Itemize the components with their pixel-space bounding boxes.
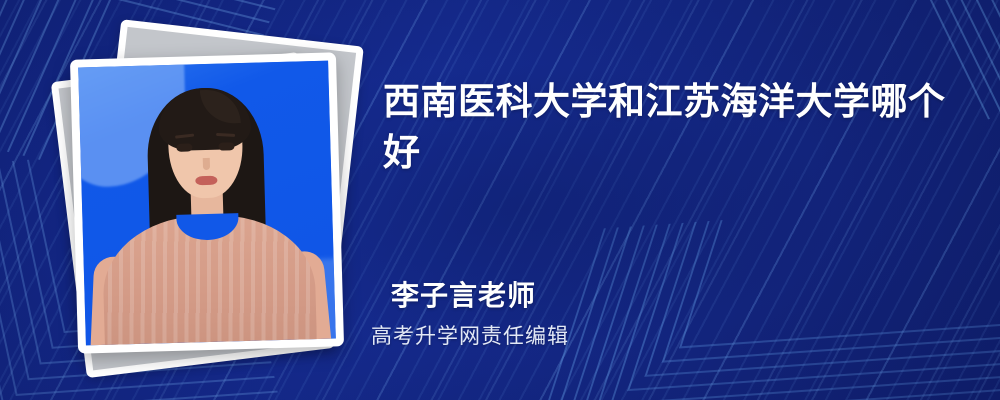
portrait-figure: [78, 61, 336, 346]
article-headline: 西南医科大学和江苏海洋大学哪个好: [383, 76, 963, 178]
banner-text-column: 西南医科大学和江苏海洋大学哪个好 李子言老师 高考升学网责任编辑: [383, 0, 983, 400]
author-name: 李子言老师: [391, 274, 536, 314]
article-cover-banner: 西南医科大学和江苏海洋大学哪个好 李子言老师 高考升学网责任编辑: [0, 0, 1000, 400]
figure-nose: [203, 158, 210, 170]
figure-eye-left: [176, 143, 192, 151]
author-role: 高考升学网责任编辑: [371, 320, 569, 350]
figure-eye-right: [218, 142, 234, 150]
figure-mouth: [195, 176, 217, 186]
author-photo-stack: [52, 38, 352, 358]
author-portrait-photo: [70, 52, 344, 353]
